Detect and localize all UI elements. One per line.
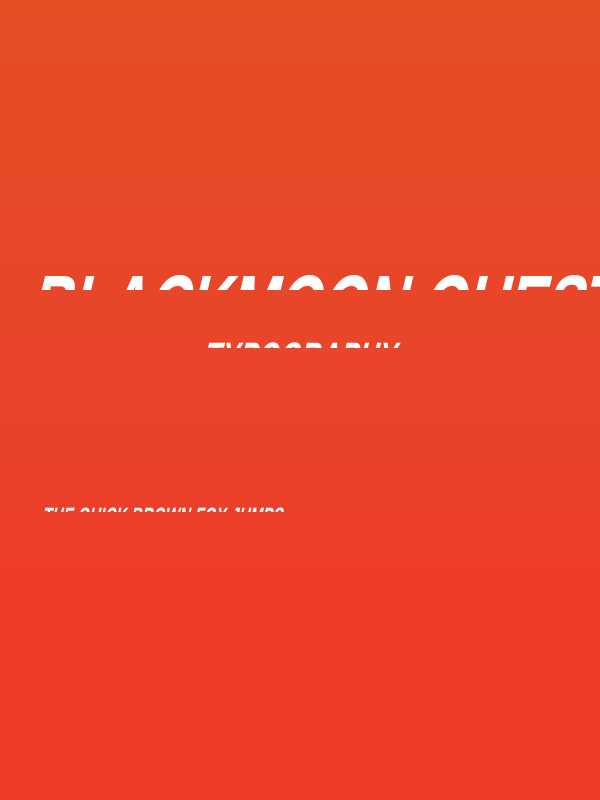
font-name-title: BLACKMOON QUEST ITALIC xyxy=(22,262,600,290)
font-pangram-sample: THE QUICK BROWN FOX JUMPS xyxy=(40,505,286,512)
font-specimen-poster: BLACKMOON QUEST ITALIC TYPOGRAPHY THE QU… xyxy=(0,0,600,800)
font-title-container: BLACKMOON QUEST ITALIC xyxy=(0,180,600,290)
font-sample-container: THE QUICK BROWN FOX JUMPS xyxy=(0,480,600,512)
font-category-subtitle: TYPOGRAPHY xyxy=(200,337,403,348)
font-subtitle-container: TYPOGRAPHY xyxy=(0,296,600,348)
